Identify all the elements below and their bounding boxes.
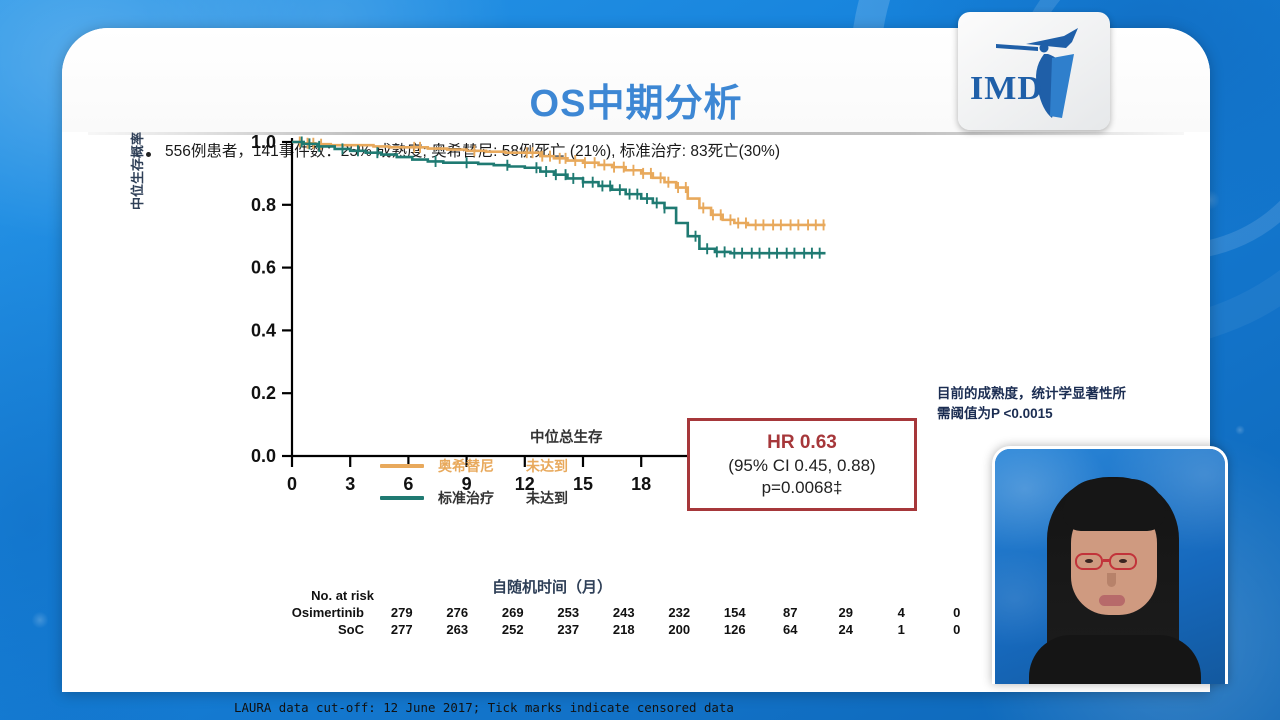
risk-cell: 126 xyxy=(707,622,763,637)
risk-cell: 263 xyxy=(430,622,486,637)
hazard-ratio-ci: (95% CI 0.45, 0.88) xyxy=(728,456,875,476)
risk-table-title: No. at risk xyxy=(248,588,374,603)
number-at-risk-table: No. at risk Osimertinib 279 276 269 253 … xyxy=(248,588,985,639)
hazard-ratio-pvalue: p=0.0068‡ xyxy=(762,478,843,498)
hazard-ratio-box: HR 0.63 (95% CI 0.45, 0.88) p=0.0068‡ xyxy=(687,418,917,511)
risk-cell: 0 xyxy=(929,605,985,620)
table-row: Osimertinib 279 276 269 253 243 232 154 … xyxy=(248,605,985,620)
legend-value-osimertinib: 未达到 xyxy=(526,456,568,476)
x-tick-label: 3 xyxy=(345,474,355,494)
risk-cell: 87 xyxy=(763,605,819,620)
risk-cell: 1 xyxy=(874,622,930,637)
imd-logo: IMD xyxy=(958,12,1110,130)
chart-legend: 中位总生存 奥希替尼 未达到 标准治疗 未达到 xyxy=(380,426,603,520)
risk-cell: 253 xyxy=(541,605,597,620)
risk-cell: 29 xyxy=(818,605,874,620)
bullet-dot-icon xyxy=(146,152,151,157)
y-tick-label: 0.2 xyxy=(251,383,276,403)
risk-cell: 237 xyxy=(541,622,597,637)
presenter-torso xyxy=(1029,635,1201,684)
risk-cell: 0 xyxy=(929,622,985,637)
legend-label-osimertinib: 奥希替尼 xyxy=(438,456,526,476)
footnote-line-1: LAURA data cut-off: 12 June 2017; Tick m… xyxy=(234,698,853,717)
presenter-glasses-bridge xyxy=(1103,559,1110,562)
presenter-fringe xyxy=(1063,479,1165,531)
risk-cell: 279 xyxy=(374,605,430,620)
legend-swatch-soc xyxy=(380,496,424,500)
risk-cell: 4 xyxy=(874,605,930,620)
hazard-ratio-value: HR 0.63 xyxy=(767,432,837,454)
table-row: SoC 277 263 252 237 218 200 126 64 24 1 … xyxy=(248,622,985,637)
legend-header: 中位总生存 xyxy=(530,426,603,447)
slide-viewer: OS中期分析 556例患者，141事件数：25% 成熟度; 奥希替尼: 58例死… xyxy=(0,0,1280,720)
y-tick-label: 0.4 xyxy=(251,320,276,340)
risk-cell: 64 xyxy=(763,622,819,637)
risk-cell: 243 xyxy=(596,605,652,620)
risk-cell: 252 xyxy=(485,622,541,637)
presenter-glasses-left xyxy=(1075,553,1103,570)
risk-cell: 200 xyxy=(652,622,708,637)
legend-value-soc: 未达到 xyxy=(526,488,568,508)
km-curve-奥希替尼 xyxy=(292,142,826,225)
risk-cell: 277 xyxy=(374,622,430,637)
footnote-block: LAURA data cut-off: 12 June 2017; Tick m… xyxy=(234,660,853,720)
risk-cell: 232 xyxy=(652,605,708,620)
x-tick-label: 0 xyxy=(287,474,297,494)
legend-item-osimertinib: 奥希替尼 未达到 xyxy=(380,456,603,476)
presenter-nose xyxy=(1107,573,1116,587)
logo-wordmark: IMD xyxy=(970,70,1043,108)
y-tick-label: 0.8 xyxy=(251,195,276,215)
risk-row-label-osimertinib: Osimertinib xyxy=(248,605,374,620)
risk-cell: 24 xyxy=(818,622,874,637)
maturity-note: 目前的成熟度，统计学显著性所需阈值为P <0.0015 xyxy=(937,384,1127,423)
x-tick-label: 18 xyxy=(631,474,651,494)
risk-cell: 276 xyxy=(430,605,486,620)
y-axis-title: 中位生存概率 xyxy=(127,132,146,210)
y-tick-label: 0.0 xyxy=(251,446,276,466)
y-tick-label: 1.0 xyxy=(251,132,276,152)
legend-item-soc: 标准治疗 未达到 xyxy=(380,488,603,508)
presenter-glasses-right xyxy=(1109,553,1137,570)
risk-cell: 269 xyxy=(485,605,541,620)
presenter-mouth xyxy=(1099,595,1125,606)
risk-cell: 154 xyxy=(707,605,763,620)
risk-cell: 218 xyxy=(596,622,652,637)
presenter-video[interactable] xyxy=(992,446,1228,684)
legend-swatch-osimertinib xyxy=(380,464,424,468)
risk-row-label-soc: SoC xyxy=(248,622,374,637)
legend-label-soc: 标准治疗 xyxy=(438,488,526,508)
y-tick-label: 0.6 xyxy=(251,258,276,278)
